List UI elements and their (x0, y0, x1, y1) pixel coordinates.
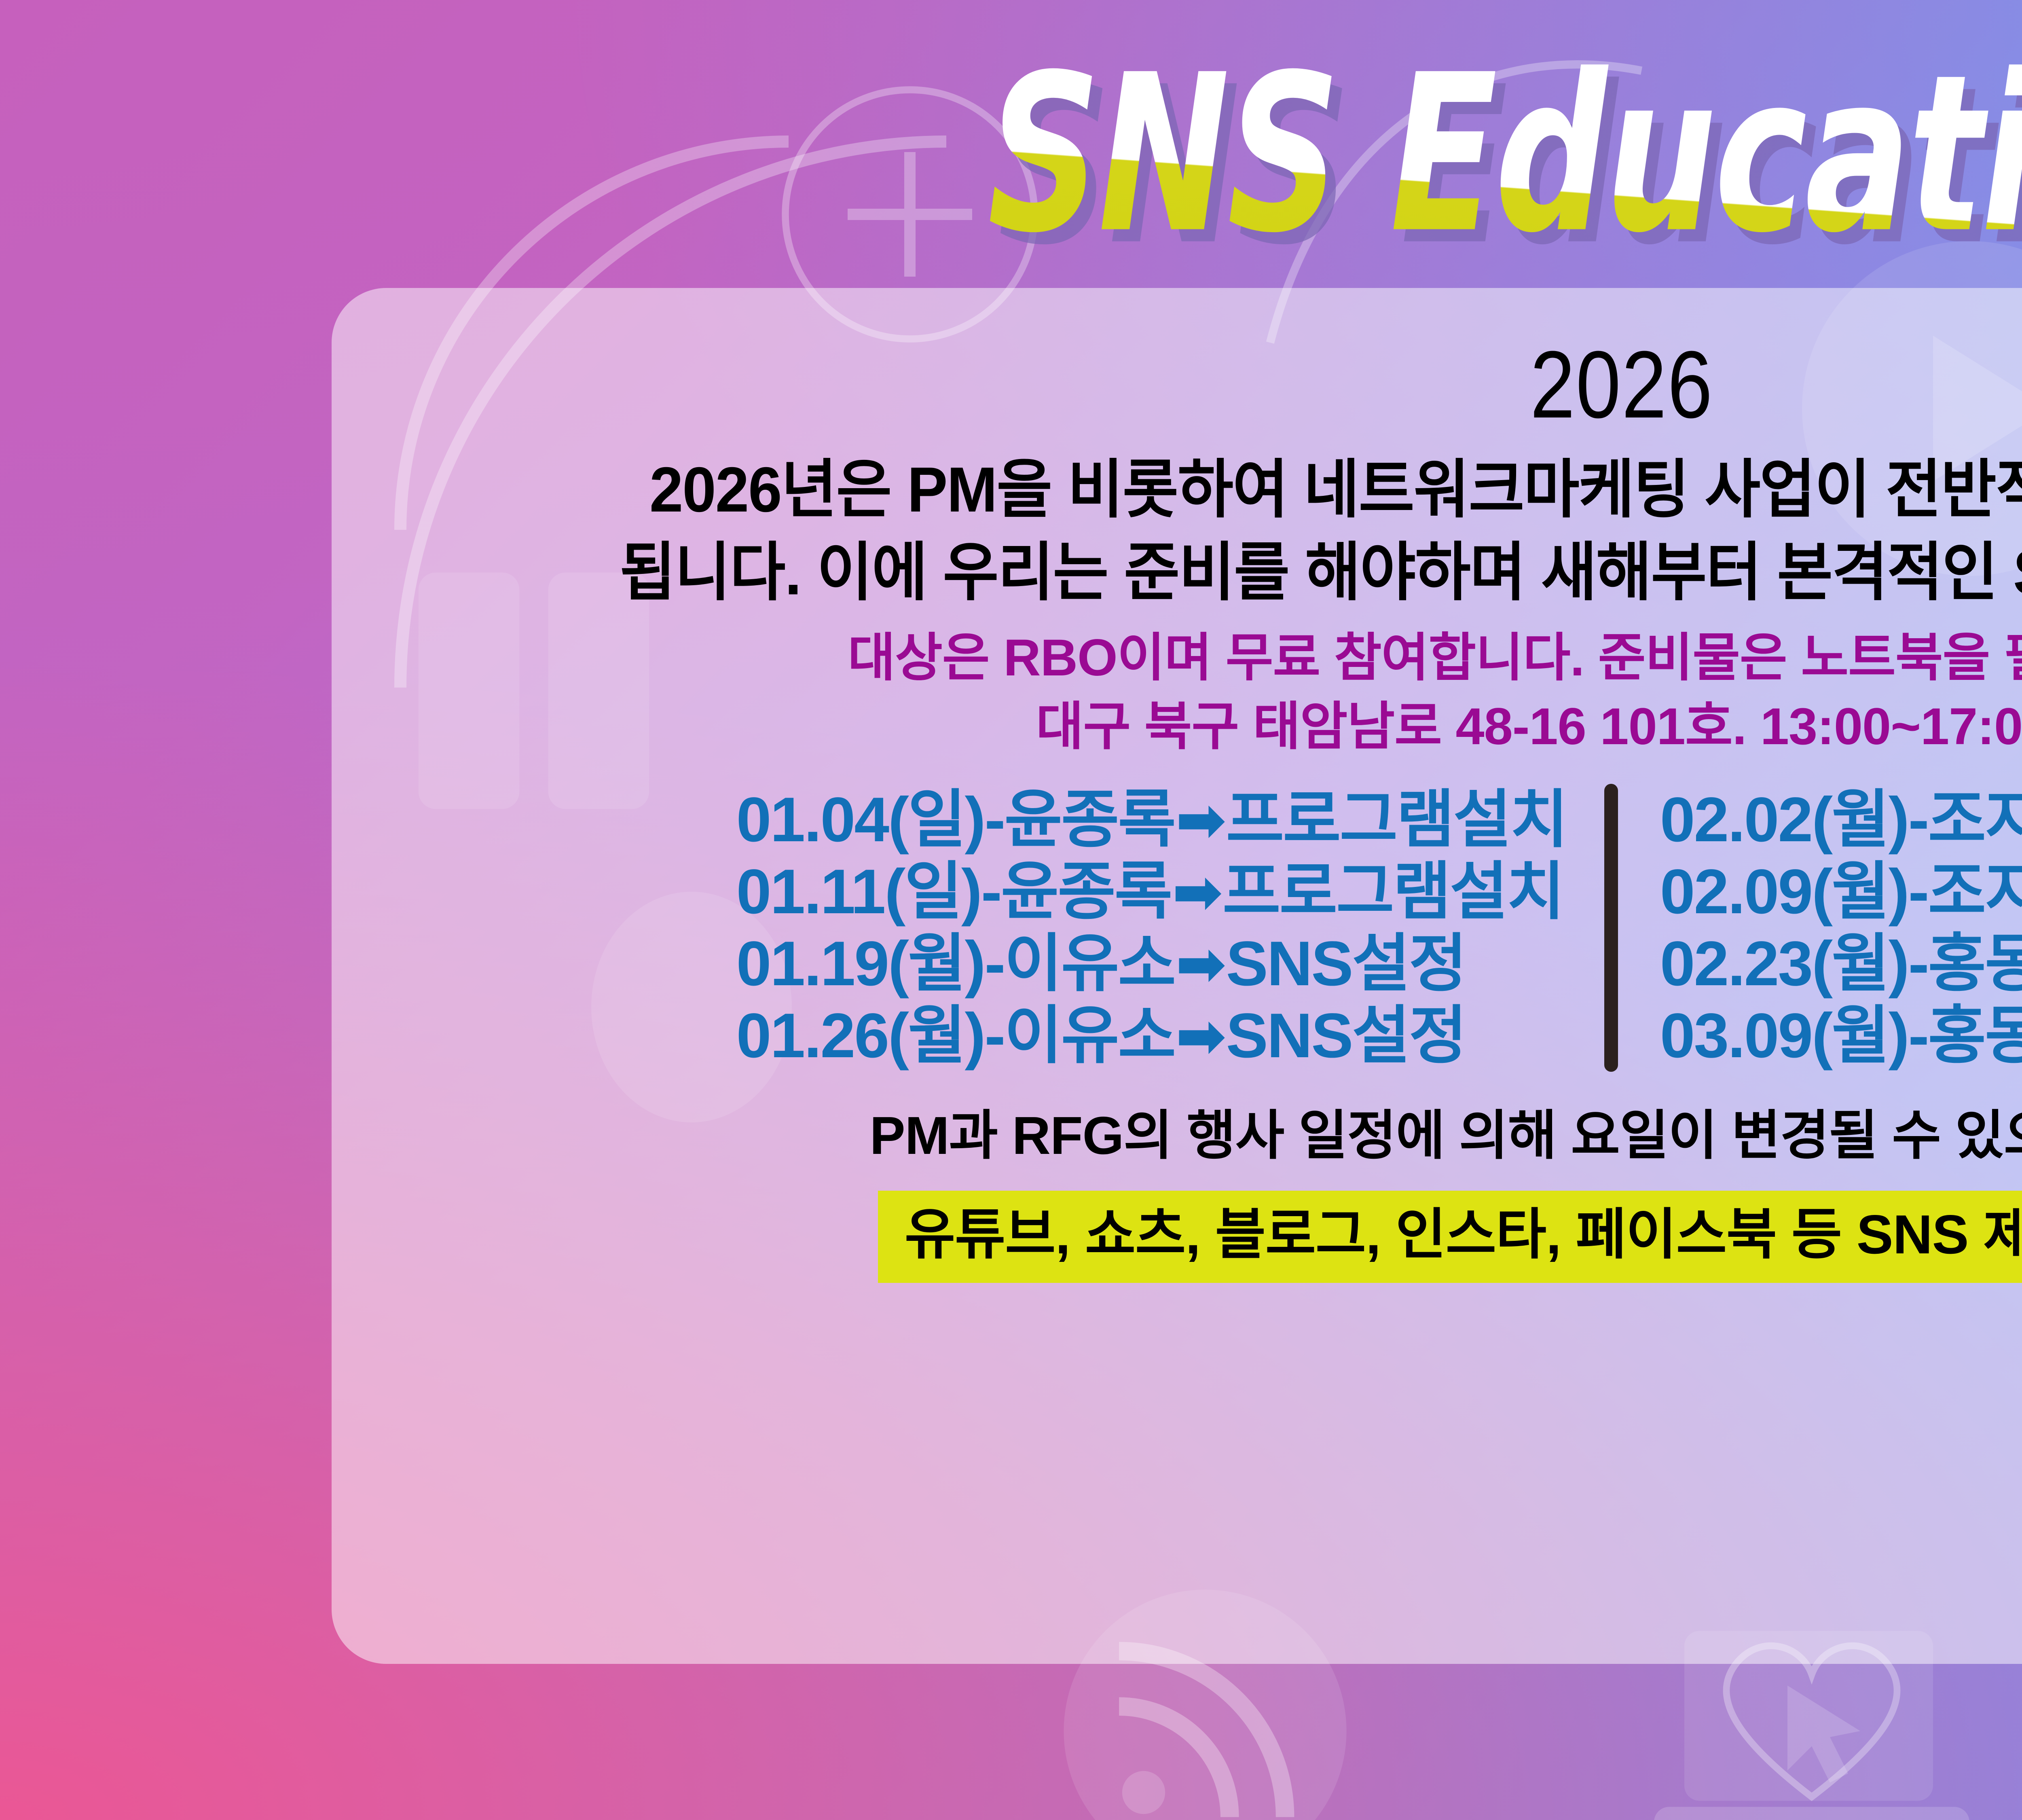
arrow-right-icon: ➡ (1175, 1005, 1226, 1066)
schedule-date: 01.19(월) (736, 932, 985, 995)
schedule-date: 01.26(월) (736, 1004, 985, 1067)
schedule-divider (1604, 784, 1618, 1072)
schedule-date: 01.04(일) (736, 788, 985, 851)
schedule-row: 01.04(일)-윤종록➡프로그램설치 (736, 784, 1567, 856)
lead-paragraph: 2026년은 PM을 비롯하여 네트워크마케팅 사업이 전반적인 대 변화를 맞… (620, 448, 2022, 614)
schedule-row: 01.19(월)-이유소➡SNS설정 (736, 928, 1466, 1000)
schedule-column-right: 02.02(월)-조지연➡사진,영상편집 02.09(월)-조지연➡사진,영상편… (1618, 784, 2022, 1072)
schedule-dash: - (985, 788, 1005, 851)
arrow-right-icon: ➡ (1175, 789, 1226, 850)
schedule-topic: 프로그램설치 (1223, 860, 1563, 923)
schedule-instructor: 이유소 (1004, 1004, 1175, 1067)
schedule-instructor: 이유소 (1004, 932, 1175, 995)
schedule-topic: 프로그램설치 (1226, 788, 1567, 851)
schedule-dash: - (1908, 788, 1928, 851)
schedule-dash: - (1908, 860, 1928, 923)
schedule-instructor: 홍동주 (1928, 932, 2022, 995)
schedule-instructor: 윤종록 (1001, 860, 1172, 923)
schedule-dash: - (1908, 932, 1928, 995)
lead-line-2: 됩니다. 이에 우리는 준비를 해야하며 새해부터 본격적인 SNS 교육을 실… (620, 531, 2022, 614)
lead-line-1: 2026년은 PM을 비롯하여 네트워크마케팅 사업이 전반적인 대 변화를 맞… (620, 448, 2022, 531)
schedule-dash: - (985, 1004, 1005, 1067)
schedule-row: 02.23(월)-홍동주➡PPT사용법 (1660, 928, 2022, 1000)
schedule-dash: - (1908, 1004, 1928, 1067)
schedule-dash: - (981, 860, 1001, 923)
schedule-instructor: 홍동주 (1928, 1004, 2022, 1067)
schedule-instructor: 윤종록 (1004, 788, 1175, 851)
year-heading: 2026 (1530, 337, 1713, 433)
poster-title: SNS Education SNS Education (0, 47, 2022, 273)
arrow-right-icon: ➡ (1171, 861, 1223, 922)
schedule-section: 01.04(일)-윤종록➡프로그램설치 01.11(일)-윤종록➡프로그램설치 … (332, 784, 2022, 1072)
schedule-row: 02.09(월)-조지연➡사진,영상편집 (1660, 856, 2022, 928)
sub-paragraph: 대상은 RBO이며 무료 참여합니다. 준비물은 노트북을 필참하셔야합니다. … (848, 624, 2022, 761)
schedule-row: 03.09(월)-홍동주➡PPT사용법 (1660, 1000, 2022, 1072)
schedule-notice: PM과 RFG의 행사 일정에 의해 요일이 변경될 수 있으니 참조하세요. (870, 1109, 2022, 1162)
arrow-right-icon: ➡ (1175, 933, 1226, 994)
schedule-date: 02.02(월) (1660, 788, 1908, 851)
highlight-banner-wrap: 유튜브, 쇼츠, 블로그, 인스타, 페이스북 등 SNS 제작&관리 능력 (878, 1191, 2022, 1283)
content-card: 2026 2026년은 PM을 비롯하여 네트워크마케팅 사업이 전반적인 대 … (332, 288, 2022, 1664)
schedule-row: 01.11(일)-윤종록➡프로그램설치 (736, 856, 1564, 928)
schedule-date: 02.09(월) (1660, 860, 1908, 923)
schedule-column-left: 01.04(일)-윤종록➡프로그램설치 01.11(일)-윤종록➡프로그램설치 … (736, 784, 1604, 1072)
schedule-row: 01.26(월)-이유소➡SNS설정 (736, 1000, 1466, 1072)
schedule-date: 03.09(월) (1660, 1004, 1908, 1067)
schedule-date: 01.11(일) (736, 860, 981, 923)
schedule-topic: SNS설정 (1226, 1004, 1466, 1067)
schedule-topic: SNS설정 (1226, 932, 1466, 995)
schedule-dash: - (985, 932, 1005, 995)
sub-line-1: 대상은 RBO이며 무료 참여합니다. 준비물은 노트북을 필참하셔야합니다. (848, 624, 2022, 692)
title-text: SNS Education (988, 47, 2022, 263)
schedule-instructor: 조지연 (1928, 860, 2022, 923)
schedule-row: 02.02(월)-조지연➡사진,영상편집 (1660, 784, 2022, 856)
sub-line-2: 대구 북구 태암남로 48-16 101호. 13:00~17:00(4시간) (848, 692, 2022, 761)
schedule-date: 02.23(월) (1660, 932, 1908, 995)
highlight-banner: 유튜브, 쇼츠, 블로그, 인스타, 페이스북 등 SNS 제작&관리 능력 (878, 1191, 2022, 1283)
poster-root: SNS Education SNS Education 2026 2026년은 … (0, 0, 2022, 1820)
schedule-instructor: 조지연 (1928, 788, 2022, 851)
